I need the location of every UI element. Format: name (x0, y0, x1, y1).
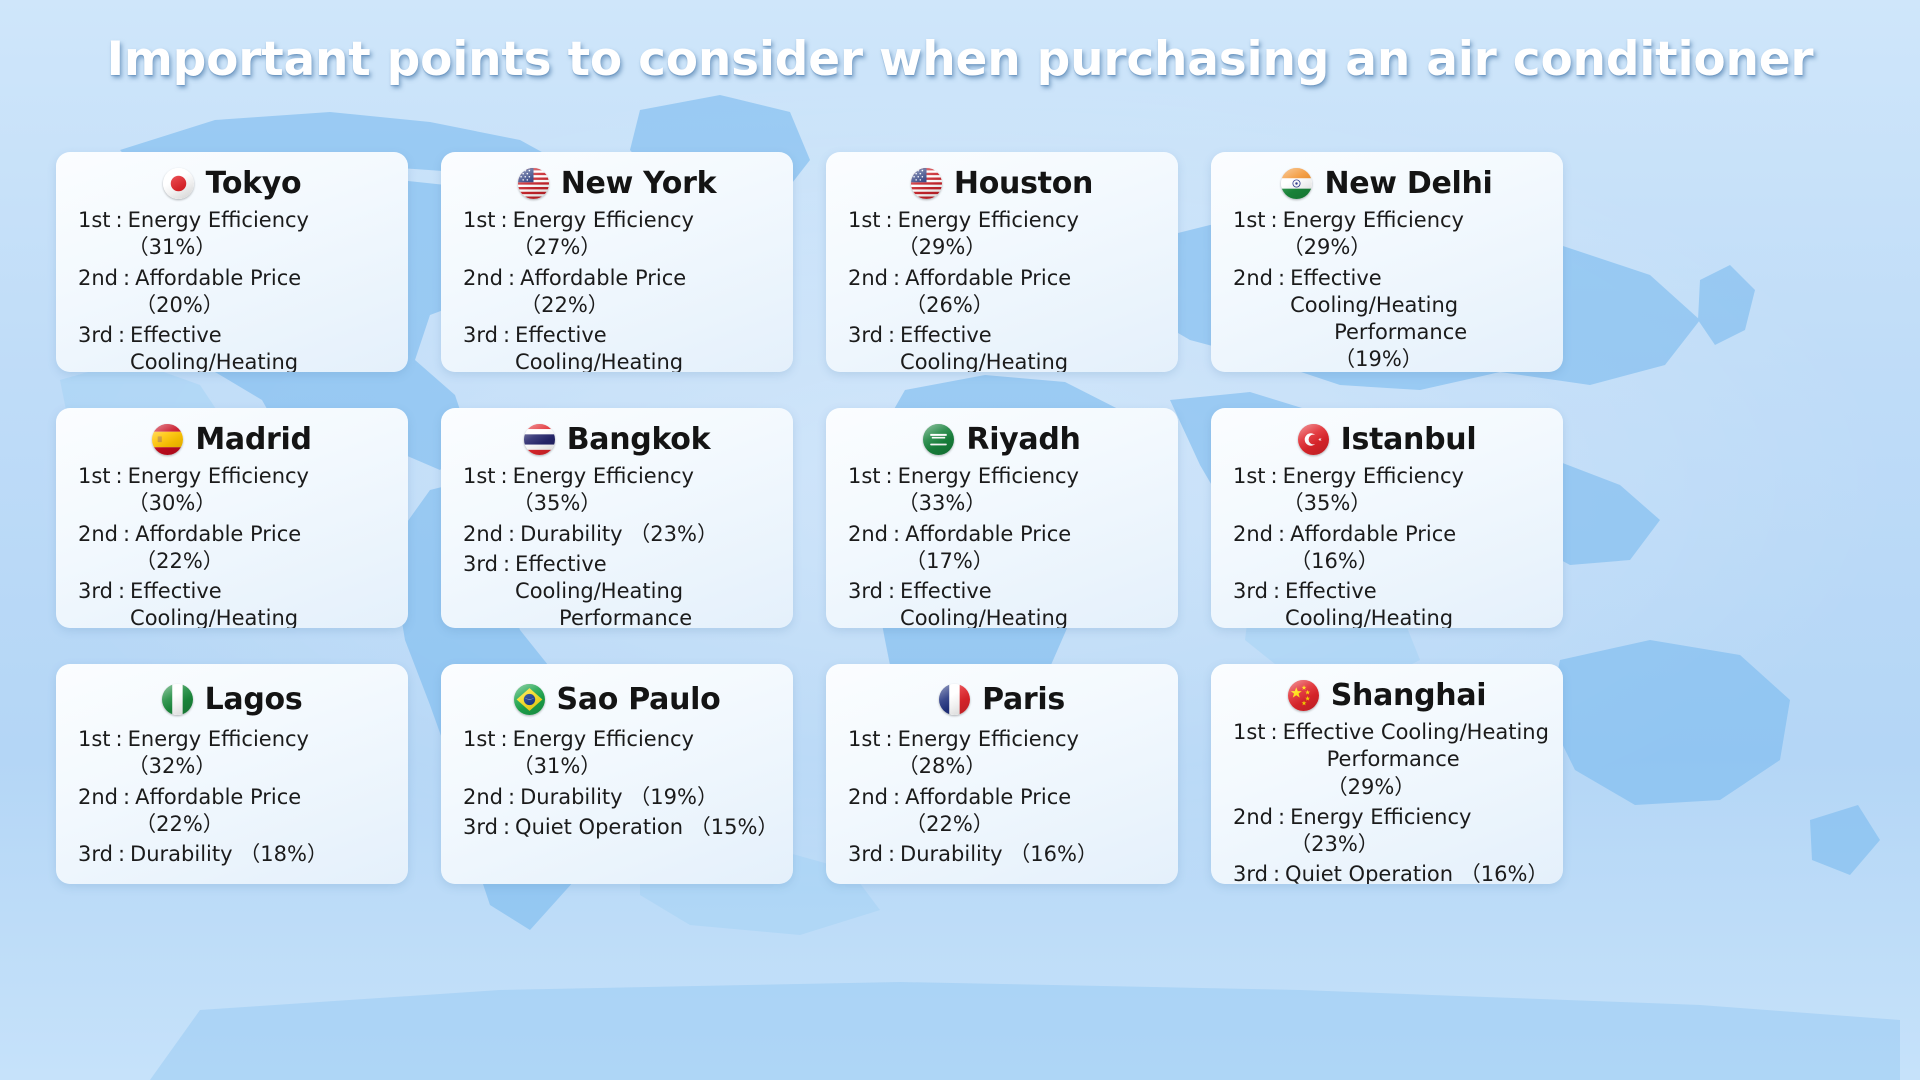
city-name: Lagos (205, 682, 303, 717)
rank-value: Effective Cooling/HeatingPerformance （19… (1290, 265, 1549, 372)
city-card-header: Istanbul (1225, 422, 1549, 457)
city-card-header: Tokyo (70, 166, 394, 201)
rank-row: 2nd:Affordable Price （22%） (848, 784, 1164, 839)
rank-percent: （20%） (135, 293, 224, 317)
rank-separator: : (118, 784, 135, 811)
city-name: Bangkok (567, 422, 711, 457)
rank-row: 3rd:Effective Cooling/HeatingPerformance… (848, 322, 1164, 372)
rank-separator: : (1273, 521, 1290, 548)
rank-label: 2nd (1233, 265, 1273, 292)
rank-criterion: Affordable Price (135, 522, 301, 546)
rank-row: 3rd:Effective Cooling/HeatingPerformance… (463, 551, 779, 628)
rank-list: 1st:Energy Efficiency （27%）2nd:Affordabl… (455, 207, 779, 372)
rank-percent: （17%） (905, 549, 994, 573)
rank-value: Energy Efficiency （30%） (128, 463, 394, 518)
flag-china-icon (1288, 680, 1319, 711)
rank-value: Effective Cooling/HeatingPerformance （14… (515, 551, 779, 628)
rank-row: 2nd:Affordable Price （16%） (1233, 521, 1549, 576)
city-name: Sao Paulo (557, 682, 721, 717)
city-card-header: Madrid (70, 422, 394, 457)
rank-criterion: Effective Cooling/Heating (130, 579, 298, 628)
rank-label: 2nd (78, 784, 118, 811)
city-card[interactable]: Madrid1st:Energy Efficiency （30%）2nd:Aff… (56, 408, 408, 628)
rank-row: 2nd:Durability （23%） (463, 521, 779, 548)
rank-criterion: Effective Cooling/Heating (900, 579, 1068, 628)
rank-criterion: Energy Efficiency (1290, 805, 1471, 829)
city-name: New Delhi (1324, 166, 1492, 201)
rank-label: 3rd (1233, 861, 1268, 884)
rank-criterion: Effective Cooling/Heating (900, 323, 1068, 372)
rank-value: Energy Efficiency （29%） (1283, 207, 1549, 262)
flag-japan-icon (163, 168, 194, 199)
city-card[interactable]: Bangkok1st:Energy Efficiency （35%）2nd:Du… (441, 408, 793, 628)
rank-label: 3rd (78, 322, 113, 349)
rank-list: 1st:Energy Efficiency （28%）2nd:Affordabl… (840, 726, 1164, 868)
city-name: Riyadh (966, 422, 1080, 457)
rank-row: 3rd:Effective Cooling/HeatingPerformance… (848, 578, 1164, 628)
rank-value: Affordable Price （16%） (1290, 521, 1549, 576)
rank-percent: （29%） (1327, 775, 1416, 799)
rank-criterion: Energy Efficiency (898, 464, 1079, 488)
rank-label: 1st (78, 207, 111, 234)
rank-percent: （32%） (128, 754, 217, 778)
city-card[interactable]: Paris1st:Energy Efficiency （28%）2nd:Affo… (826, 664, 1178, 884)
rank-label: 2nd (848, 784, 888, 811)
rank-separator: : (113, 841, 130, 868)
rank-list: 1st:Energy Efficiency （35%）2nd:Durabilit… (455, 463, 779, 628)
rank-separator: : (888, 265, 905, 292)
rank-separator: : (503, 265, 520, 292)
rank-separator: : (881, 207, 898, 234)
flag-usa-icon (911, 168, 942, 199)
rank-row: 3rd:Durability （16%） (848, 841, 1164, 868)
rank-value: Affordable Price （22%） (135, 784, 394, 839)
rank-row: 2nd:Affordable Price （20%） (78, 265, 394, 320)
rank-criterion: Durability (520, 785, 622, 809)
rank-separator: : (1266, 207, 1283, 234)
rank-criterion-line2-text: Performance (1334, 320, 1467, 344)
city-card-header: New Delhi (1225, 166, 1549, 201)
rank-value: Effective Cooling/HeatingPerformance （18… (130, 322, 394, 372)
rank-separator: : (1273, 804, 1290, 831)
rank-criterion: Effective Cooling/Heating (1290, 266, 1458, 317)
rank-criterion: Durability (900, 842, 1002, 866)
rank-criterion: Durability (520, 522, 622, 546)
rank-value: Durability （18%） (130, 841, 394, 868)
rank-row: 1st:Energy Efficiency （31%） (78, 207, 394, 262)
rank-row: 1st:Energy Efficiency （30%） (78, 463, 394, 518)
rank-label: 2nd (1233, 521, 1273, 548)
rank-percent: （15%） (690, 815, 779, 839)
rank-label: 2nd (463, 265, 503, 292)
rank-value: Affordable Price （20%） (135, 265, 394, 320)
rank-row: 3rd:Quiet Operation （16%） (1233, 861, 1549, 884)
rank-row: 2nd:Affordable Price （26%） (848, 265, 1164, 320)
rank-row: 2nd:Affordable Price （22%） (78, 521, 394, 576)
rank-separator: : (496, 463, 513, 490)
rank-value: Energy Efficiency （35%） (1283, 463, 1549, 518)
rank-label: 3rd (1233, 578, 1268, 605)
rank-value: Effective Cooling/HeatingPerformance （16… (130, 578, 394, 628)
rank-percent: （22%） (520, 293, 609, 317)
rank-criterion: Effective Cooling/Heating (130, 323, 298, 372)
rank-label: 1st (78, 463, 111, 490)
rank-criterion: Affordable Price (135, 266, 301, 290)
rank-criterion: Affordable Price (905, 522, 1071, 546)
rank-percent: （18%） (239, 842, 328, 866)
rank-separator: : (111, 463, 128, 490)
rank-label: 2nd (848, 265, 888, 292)
rank-value: Effective Cooling/HeatingPerformance （16… (900, 322, 1164, 372)
flag-saudi-arabia-icon (923, 424, 954, 455)
rank-percent: （23%） (1290, 832, 1379, 856)
rank-row: 2nd:Durability （19%） (463, 784, 779, 811)
rank-criterion: Energy Efficiency (513, 208, 694, 232)
rank-row: 1st:Energy Efficiency （35%） (463, 463, 779, 518)
rank-value: Energy Efficiency （33%） (898, 463, 1164, 518)
flag-usa-icon (518, 168, 549, 199)
rank-value: Durability （19%） (520, 784, 779, 811)
page-title-bar: Important points to consider when purcha… (0, 0, 1920, 118)
rank-label: 1st (78, 726, 111, 753)
rank-criterion: Quiet Operation (1285, 862, 1453, 884)
rank-list: 1st:Energy Efficiency （33%）2nd:Affordabl… (840, 463, 1164, 628)
city-card-header: New York (455, 166, 779, 201)
rank-criterion: Energy Efficiency (898, 208, 1079, 232)
rank-criterion: Energy Efficiency (128, 727, 309, 751)
rank-label: 3rd (78, 841, 113, 868)
rank-criterion: Affordable Price (905, 266, 1071, 290)
rank-separator: : (498, 814, 515, 841)
rank-value: Energy Efficiency （35%） (513, 463, 779, 518)
rank-list: 1st:Energy Efficiency （31%）2nd:Affordabl… (70, 207, 394, 372)
city-card[interactable]: New Delhi1st:Energy Efficiency （29%）2nd:… (1211, 152, 1563, 372)
city-name: Paris (982, 682, 1065, 717)
rank-criterion-line2-text: Performance (1327, 747, 1460, 771)
flag-spain-icon (152, 424, 183, 455)
rank-criterion-line2-text: Performance (559, 606, 692, 628)
rank-label: 1st (1233, 207, 1266, 234)
rank-criterion-line2: Performance （14%） (515, 605, 779, 628)
rank-row: 3rd:Effective Cooling/HeatingPerformance… (1233, 578, 1549, 628)
rank-row: 2nd:Affordable Price （22%） (463, 265, 779, 320)
rank-separator: : (1273, 265, 1290, 292)
rank-separator: : (1268, 861, 1285, 884)
rank-percent: （19%） (1334, 347, 1423, 371)
rank-value: Effective Cooling/HeatingPerformance （20… (515, 322, 779, 372)
rank-criterion: Durability (130, 842, 232, 866)
rank-percent: （22%） (135, 812, 224, 836)
rank-value: Affordable Price （22%） (520, 265, 779, 320)
rank-separator: : (1268, 578, 1285, 605)
rank-percent: （19%） (629, 785, 718, 809)
rank-label: 2nd (463, 521, 503, 548)
rank-criterion-line2: Performance （29%） (1283, 746, 1549, 801)
city-card-header: Houston (840, 166, 1164, 201)
rank-value: Energy Efficiency （31%） (128, 207, 394, 262)
rank-separator: : (111, 726, 128, 753)
rank-separator: : (888, 521, 905, 548)
rank-label: 1st (848, 207, 881, 234)
rank-criterion: Energy Efficiency (128, 464, 309, 488)
city-name: Tokyo (206, 166, 302, 201)
rank-separator: : (883, 578, 900, 605)
rank-row: 1st:Energy Efficiency （35%） (1233, 463, 1549, 518)
city-card-header: Lagos (70, 678, 394, 720)
rank-row: 2nd:Affordable Price （22%） (78, 784, 394, 839)
rank-list: 1st:Energy Efficiency （30%）2nd:Affordabl… (70, 463, 394, 628)
rank-value: Energy Efficiency （23%） (1290, 804, 1549, 859)
rank-criterion: Affordable Price (520, 266, 686, 290)
rank-value: Durability （23%） (520, 521, 779, 548)
rank-percent: （26%） (905, 293, 994, 317)
rank-percent: （22%） (905, 812, 994, 836)
rank-label: 3rd (463, 551, 498, 578)
rank-value: Energy Efficiency （32%） (128, 726, 394, 781)
rank-separator: : (118, 265, 135, 292)
rank-label: 3rd (78, 578, 113, 605)
city-card-header: Riyadh (840, 422, 1164, 457)
rank-row: 3rd:Effective Cooling/HeatingPerformance… (78, 578, 394, 628)
rank-row: 3rd:Durability （18%） (78, 841, 394, 868)
rank-percent: （30%） (128, 491, 217, 515)
rank-separator: : (498, 322, 515, 349)
city-card-header: Bangkok (455, 422, 779, 457)
rank-percent: （31%） (513, 754, 602, 778)
rank-percent: （22%） (135, 549, 224, 573)
rank-label: 1st (1233, 719, 1266, 746)
rank-percent: （27%） (513, 235, 602, 259)
rank-separator: : (1266, 463, 1283, 490)
rank-label: 2nd (1233, 804, 1273, 831)
rank-label: 3rd (848, 322, 883, 349)
city-name: Houston (954, 166, 1093, 201)
city-card[interactable]: Shanghai1st:Effective Cooling/HeatingPer… (1211, 664, 1563, 884)
rank-row: 1st:Energy Efficiency （29%） (1233, 207, 1549, 262)
rank-percent: （28%） (898, 754, 987, 778)
rank-percent: （31%） (128, 235, 217, 259)
city-name: Madrid (195, 422, 311, 457)
city-card[interactable]: Tokyo1st:Energy Efficiency （31%）2nd:Affo… (56, 152, 408, 372)
rank-value: Effective Cooling/HeatingPerformance （16… (1285, 578, 1549, 628)
rank-row: 3rd:Effective Cooling/HeatingPerformance… (78, 322, 394, 372)
rank-criterion: Effective Cooling/Heating (1285, 579, 1453, 628)
rank-value: Quiet Operation （15%） (515, 814, 779, 841)
flag-india-icon (1281, 168, 1312, 199)
rank-label: 2nd (848, 521, 888, 548)
rank-row: 3rd:Quiet Operation （15%） (463, 814, 779, 841)
rank-separator: : (1266, 719, 1283, 746)
rank-criterion: Effective Cooling/Heating (515, 552, 683, 603)
rank-label: 1st (463, 726, 496, 753)
rank-criterion: Affordable Price (905, 785, 1071, 809)
rank-criterion: Effective Cooling/Heating (1283, 720, 1549, 744)
flag-turkey-icon (1298, 424, 1329, 455)
rank-label: 3rd (848, 578, 883, 605)
rank-separator: : (888, 784, 905, 811)
rank-separator: : (118, 521, 135, 548)
rank-row: 1st:Energy Efficiency （28%） (848, 726, 1164, 781)
rank-row: 2nd:Effective Cooling/HeatingPerformance… (1233, 265, 1549, 372)
rank-value: Affordable Price （22%） (135, 521, 394, 576)
rank-percent: （35%） (513, 491, 602, 515)
city-card[interactable]: Sao Paulo1st:Energy Efficiency （31%）2nd:… (441, 664, 793, 884)
rank-value: Affordable Price （26%） (905, 265, 1164, 320)
rank-separator: : (111, 207, 128, 234)
page-title: Important points to consider when purcha… (107, 32, 1814, 87)
rank-label: 1st (848, 463, 881, 490)
rank-value: Durability （16%） (900, 841, 1164, 868)
flag-brazil-icon (514, 684, 545, 715)
rank-criterion: Energy Efficiency (1283, 208, 1464, 232)
rank-label: 3rd (463, 322, 498, 349)
rank-value: Energy Efficiency （31%） (513, 726, 779, 781)
rank-criterion: Energy Efficiency (513, 727, 694, 751)
rank-list: 1st:Energy Efficiency （31%）2nd:Durabilit… (455, 726, 779, 841)
rank-criterion: Energy Efficiency (898, 727, 1079, 751)
rank-list: 1st:Effective Cooling/HeatingPerformance… (1225, 719, 1549, 884)
flag-thailand-icon (524, 424, 555, 455)
city-card[interactable]: New York1st:Energy Efficiency （27%）2nd:A… (441, 152, 793, 372)
rank-criterion: Energy Efficiency (128, 208, 309, 232)
rank-percent: （16%） (1290, 549, 1379, 573)
rank-criterion: Quiet Operation (515, 815, 683, 839)
rank-list: 1st:Energy Efficiency （32%）2nd:Affordabl… (70, 726, 394, 868)
rank-label: 2nd (78, 521, 118, 548)
flag-france-icon (939, 684, 970, 715)
rank-criterion: Affordable Price (135, 785, 301, 809)
rank-criterion-line2: Performance （19%） (1290, 319, 1549, 372)
rank-list: 1st:Energy Efficiency （29%）2nd:Effective… (1225, 207, 1549, 372)
rank-percent: （16%） (1460, 862, 1549, 884)
rank-row: 1st:Energy Efficiency （33%） (848, 463, 1164, 518)
rank-separator: : (496, 207, 513, 234)
rank-criterion: Energy Efficiency (1283, 464, 1464, 488)
rank-row: 2nd:Energy Efficiency （23%） (1233, 804, 1549, 859)
city-card[interactable]: Riyadh1st:Energy Efficiency （33%）2nd:Aff… (826, 408, 1178, 628)
rank-criterion: Effective Cooling/Heating (515, 323, 683, 372)
rank-label: 1st (848, 726, 881, 753)
city-card-header: Shanghai (1225, 678, 1549, 713)
rank-separator: : (883, 841, 900, 868)
rank-label: 2nd (463, 784, 503, 811)
rank-value: Energy Efficiency （27%） (513, 207, 779, 262)
rank-label: 2nd (78, 265, 118, 292)
rank-value: Energy Efficiency （28%） (898, 726, 1164, 781)
rank-row: 3rd:Effective Cooling/HeatingPerformance… (463, 322, 779, 372)
rank-row: 1st:Energy Efficiency （29%） (848, 207, 1164, 262)
rank-label: 1st (1233, 463, 1266, 490)
rank-value: Energy Efficiency （29%） (898, 207, 1164, 262)
rank-value: Affordable Price （22%） (905, 784, 1164, 839)
rank-separator: : (881, 463, 898, 490)
rank-row: 1st:Energy Efficiency （31%） (463, 726, 779, 781)
rank-row: 2nd:Affordable Price （17%） (848, 521, 1164, 576)
rank-separator: : (498, 551, 515, 578)
rank-row: 1st:Energy Efficiency （32%） (78, 726, 394, 781)
rank-separator: : (883, 322, 900, 349)
rank-percent: （29%） (898, 235, 987, 259)
rank-percent: （23%） (629, 522, 718, 546)
rank-label: 3rd (848, 841, 883, 868)
city-card[interactable]: Houston1st:Energy Efficiency （29%）2nd:Af… (826, 152, 1178, 372)
rank-separator: : (113, 322, 130, 349)
rank-value: Affordable Price （17%） (905, 521, 1164, 576)
city-name: Shanghai (1331, 678, 1487, 713)
rank-percent: （29%） (1283, 235, 1372, 259)
city-name: New York (561, 166, 717, 201)
rank-criterion: Energy Efficiency (513, 464, 694, 488)
rank-row: 1st:Energy Efficiency （27%） (463, 207, 779, 262)
city-name: Istanbul (1341, 422, 1477, 457)
rank-list: 1st:Energy Efficiency （35%）2nd:Affordabl… (1225, 463, 1549, 628)
city-cards-grid: Tokyo1st:Energy Efficiency （31%）2nd:Affo… (56, 152, 1868, 884)
rank-criterion: Affordable Price (1290, 522, 1456, 546)
rank-value: Quiet Operation （16%） (1285, 861, 1549, 884)
rank-value: Effective Cooling/HeatingPerformance （16… (900, 578, 1164, 628)
rank-value: Effective Cooling/HeatingPerformance （29… (1283, 719, 1549, 801)
rank-label: 1st (463, 207, 496, 234)
rank-separator: : (496, 726, 513, 753)
rank-separator: : (881, 726, 898, 753)
rank-separator: : (503, 784, 520, 811)
city-card[interactable]: Istanbul1st:Energy Efficiency （35%）2nd:A… (1211, 408, 1563, 628)
rank-separator: : (113, 578, 130, 605)
rank-label: 1st (463, 463, 496, 490)
rank-percent: （35%） (1283, 491, 1372, 515)
city-card[interactable]: Lagos1st:Energy Efficiency （32%）2nd:Affo… (56, 664, 408, 884)
rank-percent: （33%） (898, 491, 987, 515)
rank-percent: （16%） (1009, 842, 1098, 866)
rank-separator: : (503, 521, 520, 548)
city-card-header: Sao Paulo (455, 678, 779, 720)
city-card-header: Paris (840, 678, 1164, 720)
rank-label: 3rd (463, 814, 498, 841)
rank-row: 1st:Effective Cooling/HeatingPerformance… (1233, 719, 1549, 801)
flag-nigeria-icon (162, 684, 193, 715)
rank-list: 1st:Energy Efficiency （29%）2nd:Affordabl… (840, 207, 1164, 372)
